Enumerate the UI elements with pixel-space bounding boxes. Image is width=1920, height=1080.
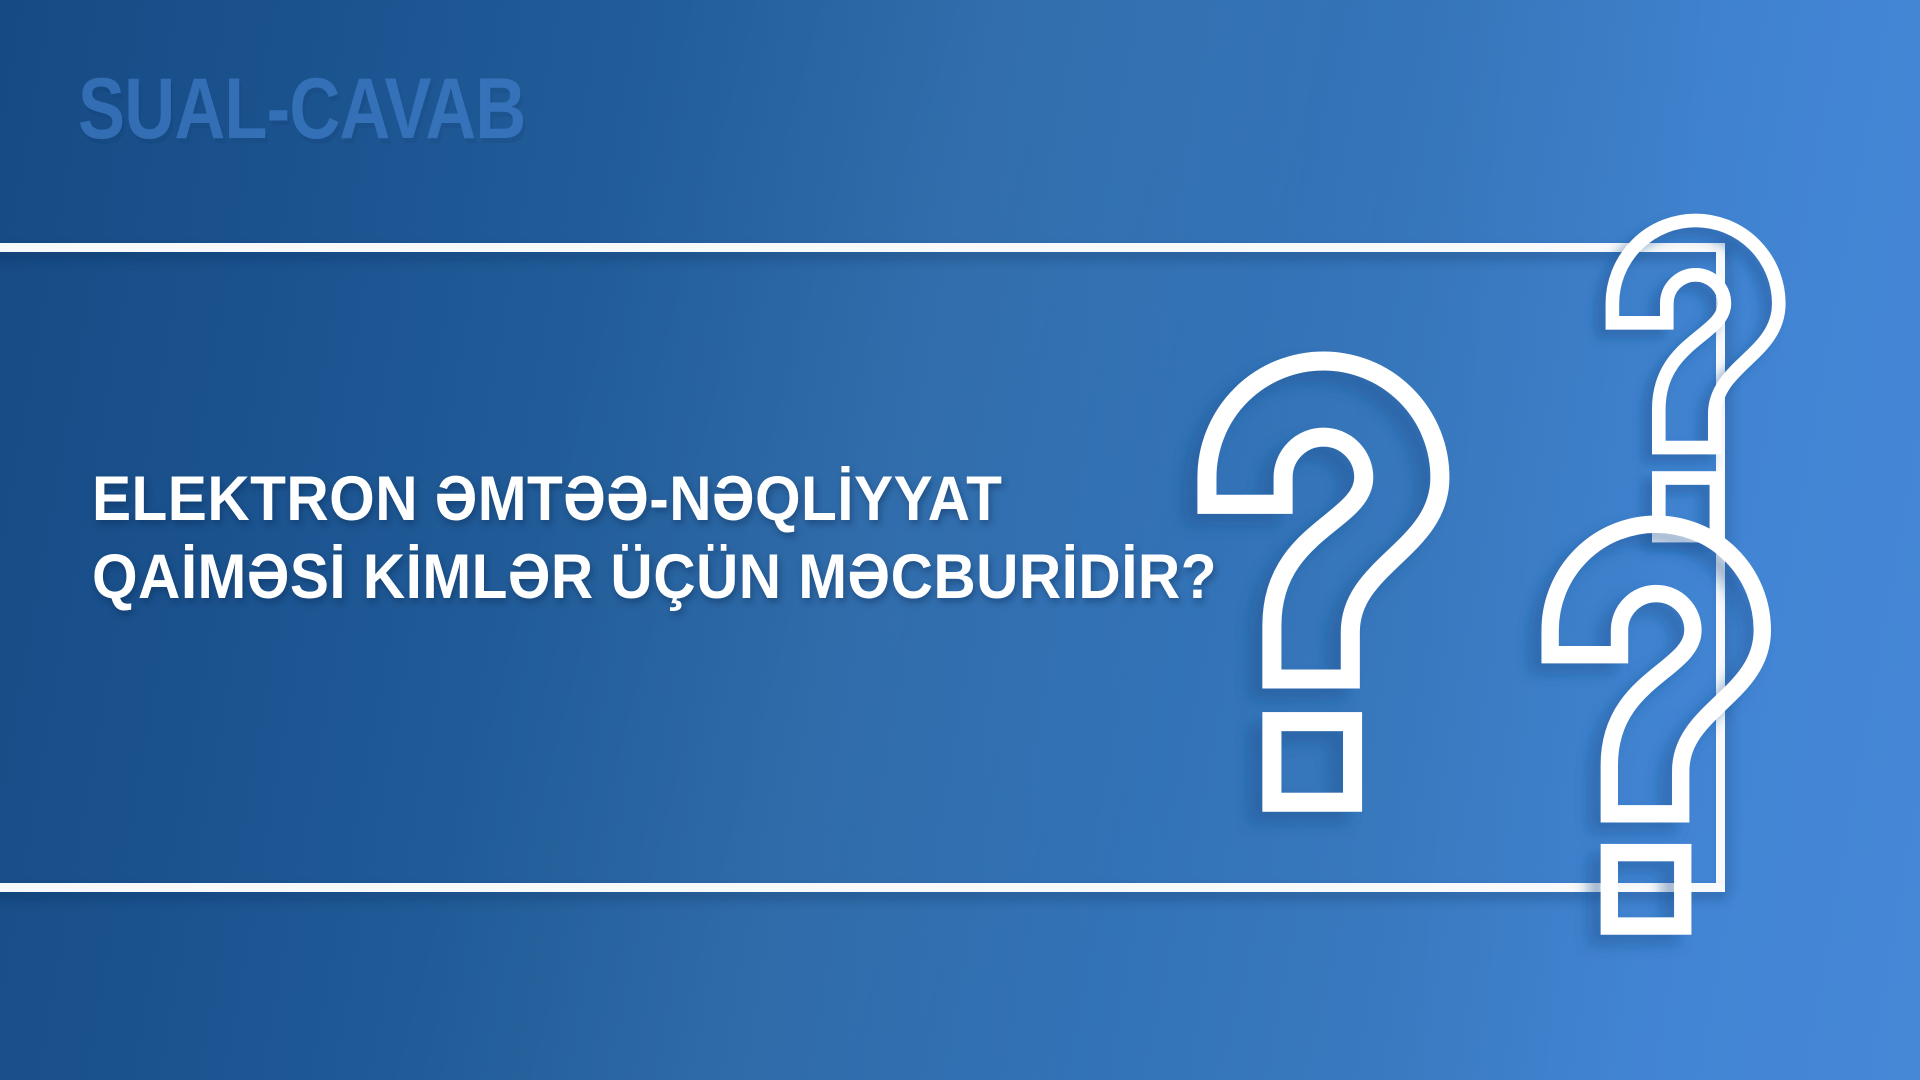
watermark-label: SUAL-CAVAB bbox=[78, 66, 526, 152]
headline: ELEKTRON ƏMTƏƏ-NƏQLİYYAT QAİMƏSİ KİMLƏR … bbox=[92, 468, 1212, 609]
question-mark-icon-top bbox=[1612, 220, 1778, 535]
sual-cavab-banner: SUAL-CAVAB bbox=[0, 0, 1920, 1080]
headline-line-2: QAİMƏSİ KİMLƏR ÜÇÜN MƏCBURİDİR? bbox=[92, 546, 1134, 608]
headline-line-1: ELEKTRON ƏMTƏƏ-NƏQLİYYAT bbox=[92, 468, 1134, 530]
question-mark-icon-bottom bbox=[1550, 524, 1762, 926]
question-mark-icon-left bbox=[1207, 361, 1440, 802]
question-marks-decoration bbox=[1310, 230, 1920, 920]
